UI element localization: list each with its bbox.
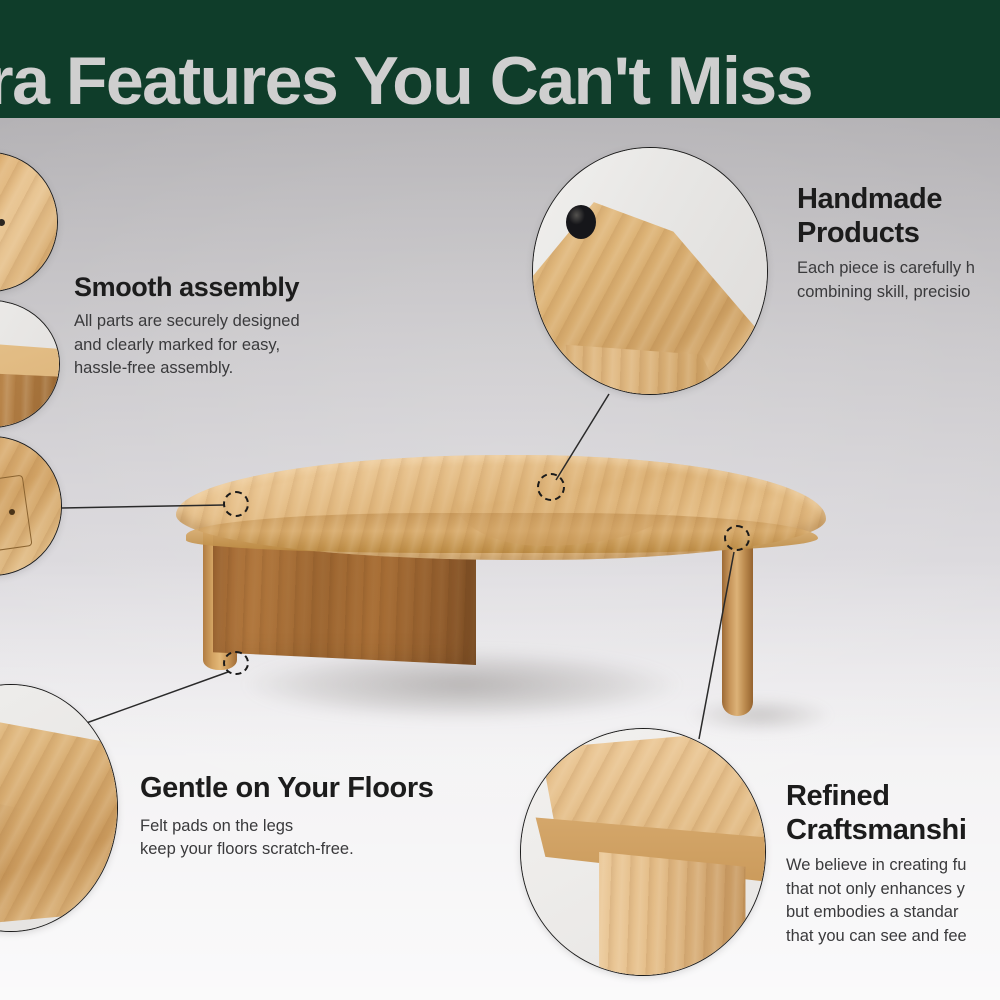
callout-image-refined-craftsmanship[interactable] (520, 728, 766, 976)
callout-text-handmade-products: Handmade Products Each piece is carefull… (797, 183, 1000, 304)
callout-image-handmade-products[interactable] (532, 147, 768, 395)
callout-image-marked-parts[interactable] (0, 436, 62, 576)
closeup-black-fitting (566, 205, 596, 239)
callout-title-handmade-products: Handmade Products (797, 183, 1000, 250)
callout-title-gentle-on-your-floors: Gentle on Your Floors (140, 772, 540, 806)
callout-title-refined-craftsmanship: Refined Craftsmanshi (786, 780, 1000, 847)
marker-tabletop-seam (537, 473, 565, 501)
callout-image-smooth-assembly[interactable] (0, 300, 60, 428)
header-band: tra Features You Can't Miss (0, 0, 1000, 118)
callout-text-refined-craftsmanship: Refined Craftsmanshi We believe in creat… (786, 780, 1000, 948)
callout-body-handmade-products: Each piece is carefully h combining skil… (797, 257, 1000, 304)
page-title: tra Features You Can't Miss (0, 42, 812, 118)
marker-base-foot (223, 651, 249, 675)
callout-title-smooth-assembly: Smooth assembly (74, 272, 404, 303)
callout-text-gentle-on-your-floors: Gentle on Your Floors Felt pads on the l… (140, 772, 540, 861)
callout-body-refined-craftsmanship: We believe in creating fu that not only … (786, 854, 1000, 948)
callout-image-wood-surface-top[interactable] (0, 152, 58, 292)
table-right-leg (722, 530, 753, 716)
infographic-canvas: tra Features You Can't Miss tra Features… (0, 0, 1000, 1000)
callout-image-felt-pad[interactable] (0, 684, 118, 932)
callout-body-gentle-on-your-floors: Felt pads on the legs keep your floors s… (140, 815, 540, 862)
closeup-wood-grain (0, 153, 57, 291)
callout-text-smooth-assembly: Smooth assembly All parts are securely d… (74, 272, 404, 381)
marker-leg-joint (724, 525, 750, 551)
marker-base-top-joint (223, 491, 249, 517)
closeup-marking-dot (9, 509, 15, 515)
callout-body-smooth-assembly: All parts are securely designed and clea… (74, 310, 404, 380)
